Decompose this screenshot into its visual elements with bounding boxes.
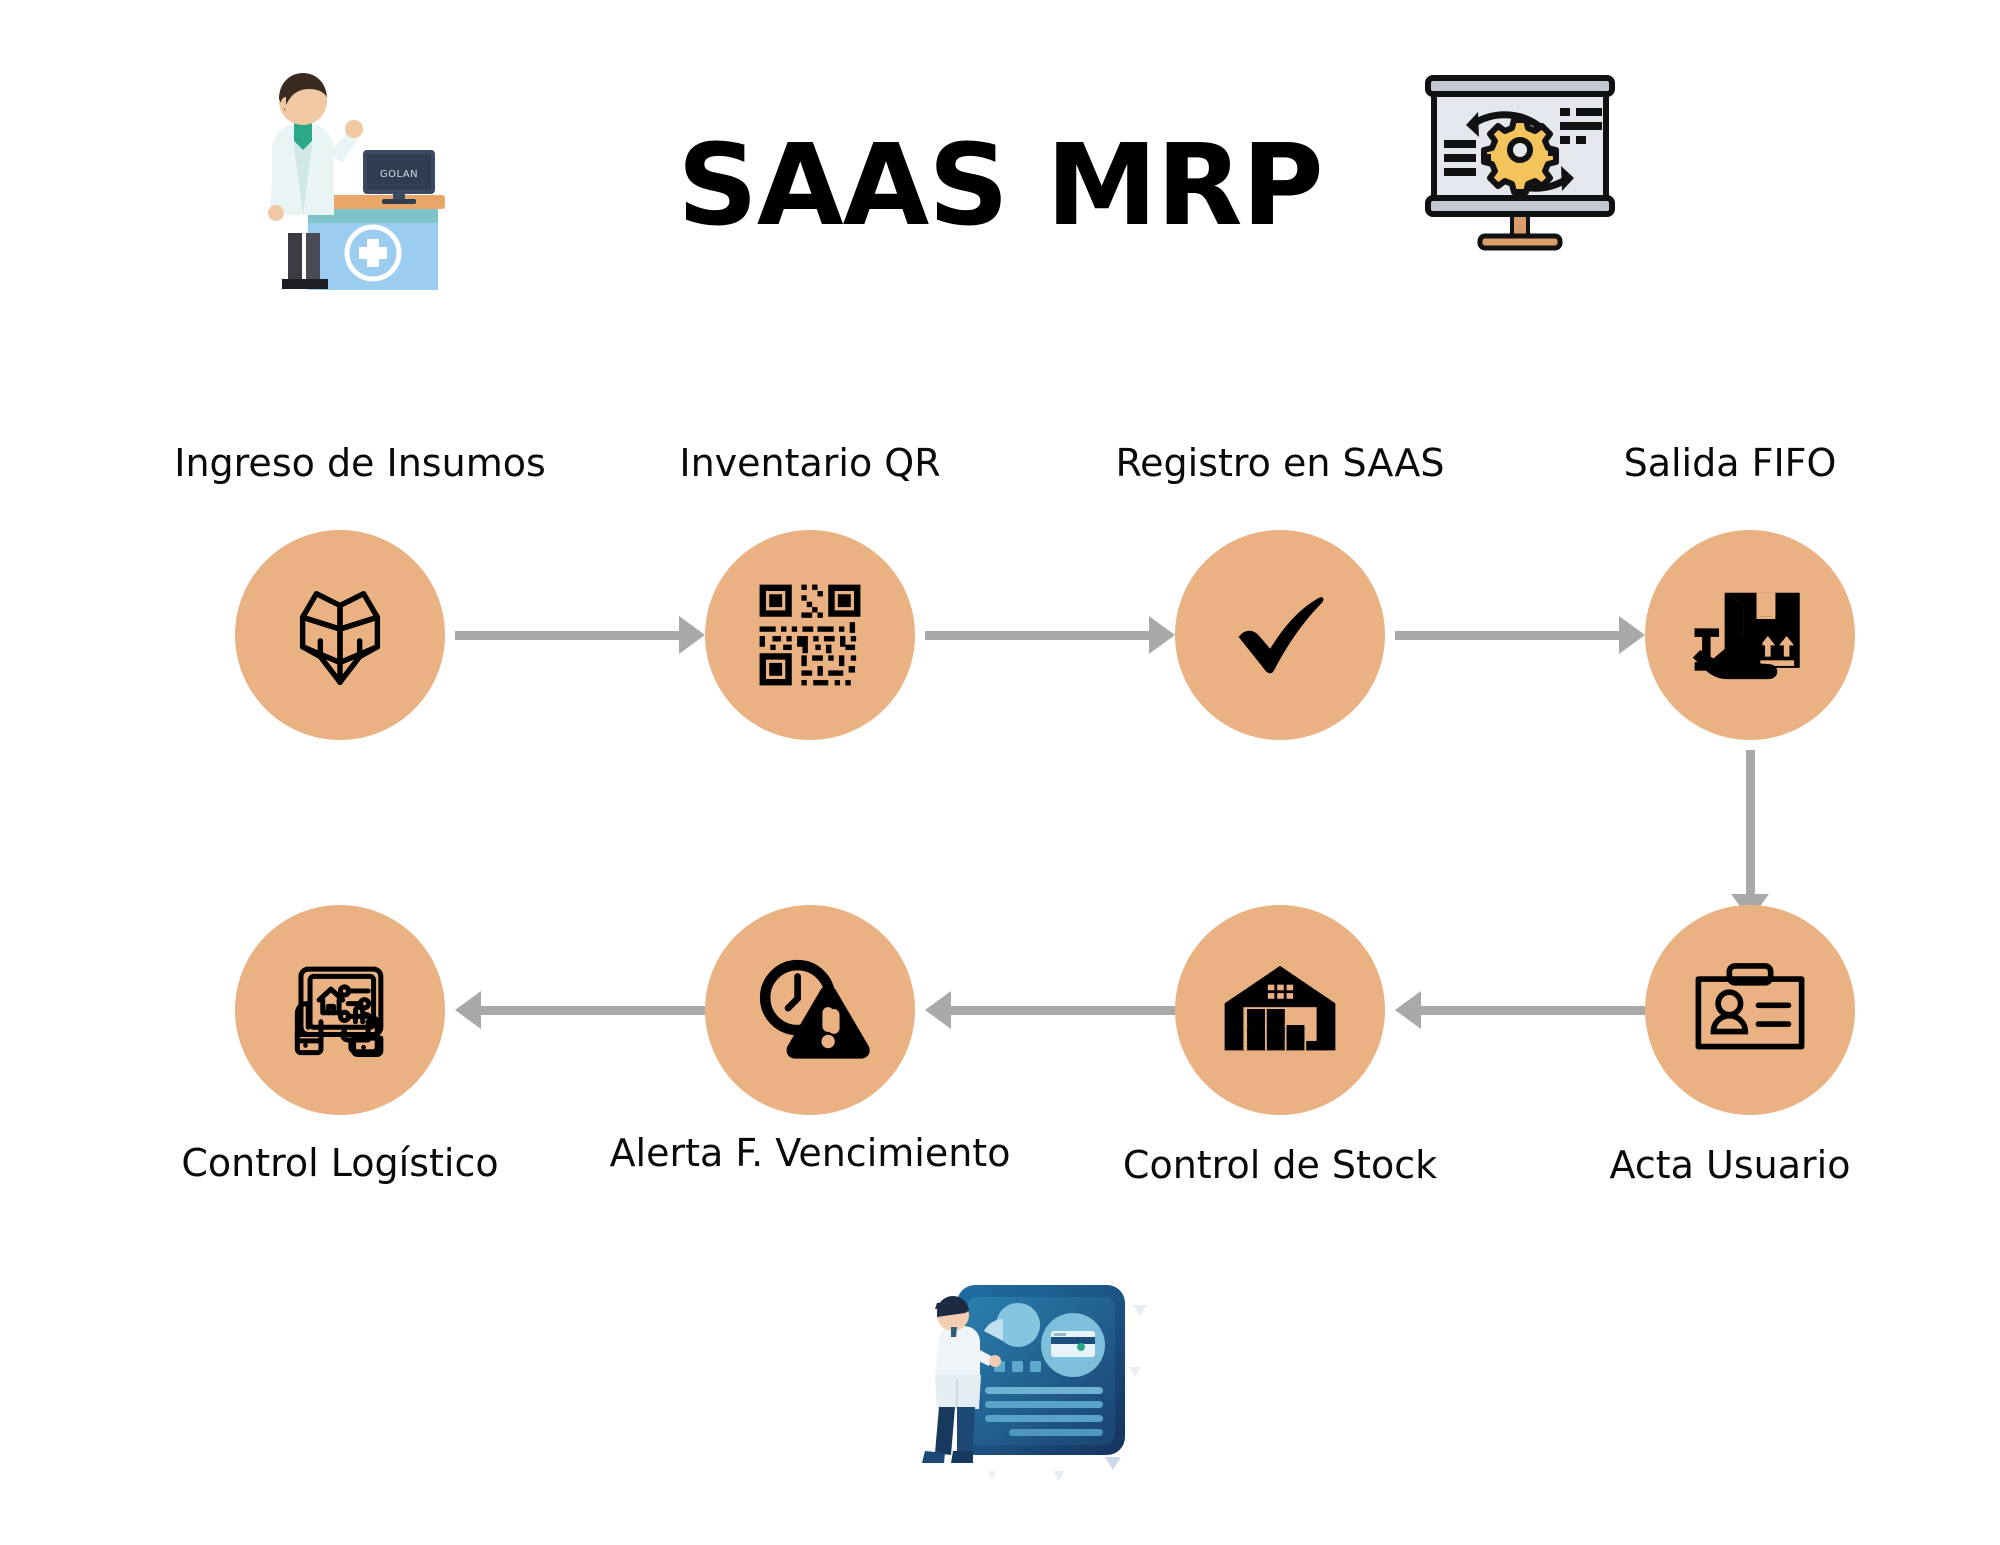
flow-node-alerta-circle[interactable] bbox=[705, 905, 915, 1115]
arrow-ingreso-to-inventario bbox=[455, 615, 705, 655]
checkmark-icon bbox=[1221, 576, 1339, 694]
flow-node-logistico[interactable] bbox=[235, 905, 445, 1115]
flow-node-inventario-circle[interactable] bbox=[705, 530, 915, 740]
flow-node-ingreso[interactable] bbox=[235, 530, 445, 740]
arrow-inventario-to-registro bbox=[925, 615, 1175, 655]
arrow-registro-to-salida bbox=[1395, 615, 1645, 655]
flow-node-alerta[interactable] bbox=[705, 905, 915, 1115]
flow-node-inventario[interactable] bbox=[705, 530, 915, 740]
flow-node-salida-circle[interactable] bbox=[1645, 530, 1855, 740]
flow-node-stock-circle[interactable] bbox=[1175, 905, 1385, 1115]
node-label-salida: Salida FIFO bbox=[1410, 443, 2000, 485]
node-label-acta: Acta Usuario bbox=[1410, 1145, 2000, 1187]
hand-holding-box-icon bbox=[1689, 574, 1811, 696]
clock-warning-icon bbox=[748, 948, 872, 1072]
arrow-salida-to-acta bbox=[1730, 750, 1770, 920]
qr-code-icon bbox=[751, 576, 869, 694]
arrow-acta-to-stock bbox=[1395, 990, 1645, 1030]
flow-node-logistico-circle[interactable] bbox=[235, 905, 445, 1115]
flow-node-ingreso-circle[interactable] bbox=[235, 530, 445, 740]
flow-node-acta-circle[interactable] bbox=[1645, 905, 1855, 1115]
arrow-stock-to-alerta bbox=[925, 990, 1175, 1030]
flow-node-stock[interactable] bbox=[1175, 905, 1385, 1115]
open-box-icon bbox=[281, 576, 399, 694]
flow-node-acta[interactable] bbox=[1645, 905, 1855, 1115]
flow-node-registro-circle[interactable] bbox=[1175, 530, 1385, 740]
arrow-alerta-to-logistico bbox=[455, 990, 705, 1030]
page-title: SAAS MRP bbox=[0, 130, 2000, 242]
doctor-presenting-dashboard-illustration bbox=[905, 1275, 1150, 1490]
presentation-board-process-icon bbox=[1420, 60, 1620, 260]
flow-node-registro[interactable] bbox=[1175, 530, 1385, 740]
hands-tablet-controls-icon bbox=[281, 951, 399, 1069]
infographic-canvas: GOLAN SAAS MRP bbox=[0, 0, 2000, 1545]
id-badge-person-icon bbox=[1689, 949, 1811, 1071]
warehouse-boxes-icon bbox=[1219, 949, 1341, 1071]
flow-node-salida[interactable] bbox=[1645, 530, 1855, 740]
